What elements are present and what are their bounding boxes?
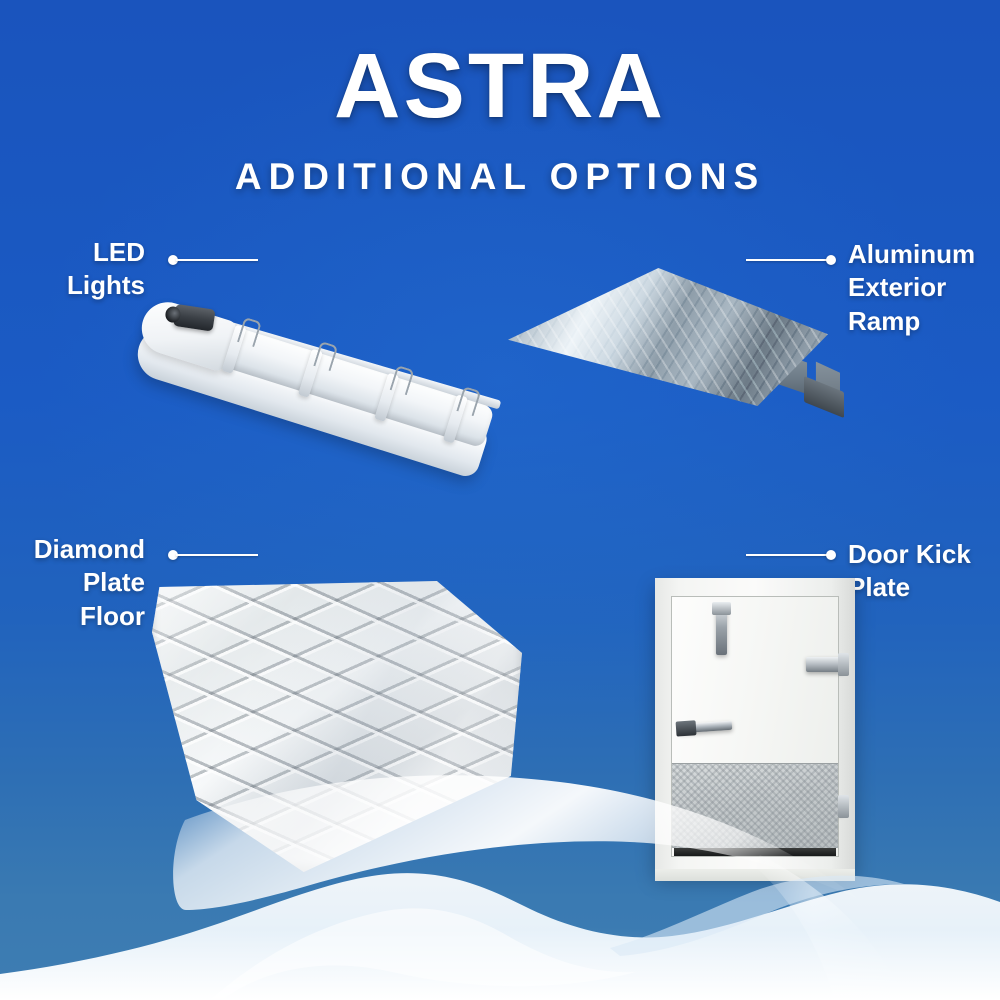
callout-label-led-lights: LED Lights (0, 236, 145, 303)
callout-label-aluminum-exterior-ramp: Aluminum Exterior Ramp (848, 238, 1000, 338)
ramp-diamond-tread-pattern (508, 268, 828, 406)
door-top-latch-icon (716, 609, 727, 655)
leader-bar (746, 554, 828, 556)
product-image-aluminum-exterior-ramp (508, 262, 860, 442)
callout-label-door-kick-plate: Door Kick Plate (848, 538, 1000, 605)
door-hinge-icon (806, 657, 844, 672)
callout-label-diamond-plate-floor: Diamond Plate Floor (0, 533, 145, 633)
ramp-tread-surface (508, 268, 828, 406)
page-subtitle: ADDITIONAL OPTIONS (0, 158, 1000, 195)
poster-canvas: ASTRA ADDITIONAL OPTIONS LED Lights Alum… (0, 0, 1000, 1000)
page-title: ASTRA (0, 40, 1000, 132)
leader-line-door-kick-plate (746, 550, 836, 560)
header: ASTRA ADDITIONAL OPTIONS (0, 0, 1000, 195)
leader-bar (176, 554, 258, 556)
leader-dot-icon (826, 550, 836, 560)
door-handle-icon (680, 720, 733, 733)
ice-snow-decoration (0, 760, 1000, 1000)
leader-bar (746, 259, 828, 261)
product-image-led-lights (130, 258, 530, 448)
led-fixture-body (130, 301, 506, 487)
leader-line-diamond-plate-floor (168, 550, 258, 560)
